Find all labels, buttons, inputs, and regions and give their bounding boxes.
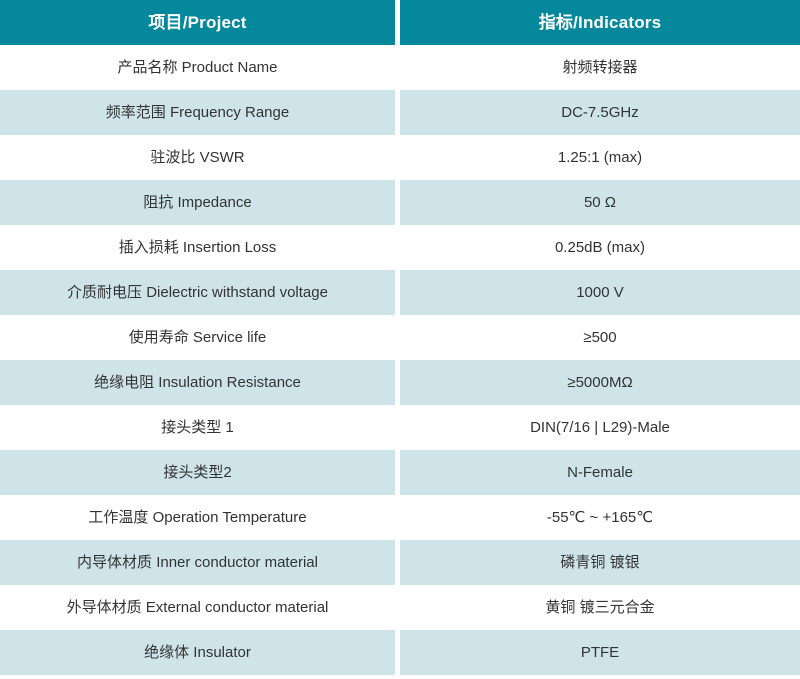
table-row: 使用寿命 Service life≥500	[0, 315, 800, 360]
cell-project: 频率范围 Frequency Range	[0, 90, 400, 135]
table-row: 阻抗 Impedance50 Ω	[0, 180, 800, 225]
cell-indicator: 1000 V	[400, 270, 800, 315]
cell-indicator: 50 Ω	[400, 180, 800, 225]
cell-indicator: 磷青铜 镀银	[400, 540, 800, 585]
table-row: 绝缘体 InsulatorPTFE	[0, 630, 800, 675]
table-row: 工作温度 Operation Temperature-55℃ ~ +165℃	[0, 495, 800, 540]
table-header: 项目/Project 指标/Indicators	[0, 0, 800, 45]
table-row: 插入损耗 Insertion Loss0.25dB (max)	[0, 225, 800, 270]
column-header-indicators: 指标/Indicators	[400, 0, 800, 45]
column-header-project: 项目/Project	[0, 0, 400, 45]
cell-indicator: 射频转接器	[400, 45, 800, 90]
specification-table: 项目/Project 指标/Indicators 产品名称 Product Na…	[0, 0, 800, 675]
cell-indicator: PTFE	[400, 630, 800, 675]
table-row: 接头类型 1DIN(7/16 | L29)-Male	[0, 405, 800, 450]
cell-indicator: 0.25dB (max)	[400, 225, 800, 270]
cell-project: 接头类型 1	[0, 405, 400, 450]
cell-indicator: -55℃ ~ +165℃	[400, 495, 800, 540]
table-row: 驻波比 VSWR1.25:1 (max)	[0, 135, 800, 180]
cell-indicator: DC-7.5GHz	[400, 90, 800, 135]
table-row: 频率范围 Frequency RangeDC-7.5GHz	[0, 90, 800, 135]
cell-project: 接头类型2	[0, 450, 400, 495]
table-header-row: 项目/Project 指标/Indicators	[0, 0, 800, 45]
cell-project: 内导体材质 Inner conductor material	[0, 540, 400, 585]
table-row: 外导体材质 External conductor material黄铜 镀三元合…	[0, 585, 800, 630]
table-row: 绝缘电阻 Insulation Resistance≥5000MΩ	[0, 360, 800, 405]
cell-project: 绝缘体 Insulator	[0, 630, 400, 675]
cell-indicator: N-Female	[400, 450, 800, 495]
table-row: 产品名称 Product Name射频转接器	[0, 45, 800, 90]
table-body: 产品名称 Product Name射频转接器频率范围 Frequency Ran…	[0, 45, 800, 675]
cell-project: 使用寿命 Service life	[0, 315, 400, 360]
cell-project: 插入损耗 Insertion Loss	[0, 225, 400, 270]
cell-project: 绝缘电阻 Insulation Resistance	[0, 360, 400, 405]
table-row: 内导体材质 Inner conductor material磷青铜 镀银	[0, 540, 800, 585]
cell-project: 阻抗 Impedance	[0, 180, 400, 225]
cell-indicator: ≥500	[400, 315, 800, 360]
cell-project: 工作温度 Operation Temperature	[0, 495, 400, 540]
cell-indicator: ≥5000MΩ	[400, 360, 800, 405]
table-row: 介质耐电压 Dielectric withstand voltage1000 V	[0, 270, 800, 315]
cell-project: 外导体材质 External conductor material	[0, 585, 400, 630]
cell-project: 驻波比 VSWR	[0, 135, 400, 180]
cell-project: 介质耐电压 Dielectric withstand voltage	[0, 270, 400, 315]
cell-indicator: 1.25:1 (max)	[400, 135, 800, 180]
cell-project: 产品名称 Product Name	[0, 45, 400, 90]
table-row: 接头类型2N-Female	[0, 450, 800, 495]
cell-indicator: 黄铜 镀三元合金	[400, 585, 800, 630]
cell-indicator: DIN(7/16 | L29)-Male	[400, 405, 800, 450]
